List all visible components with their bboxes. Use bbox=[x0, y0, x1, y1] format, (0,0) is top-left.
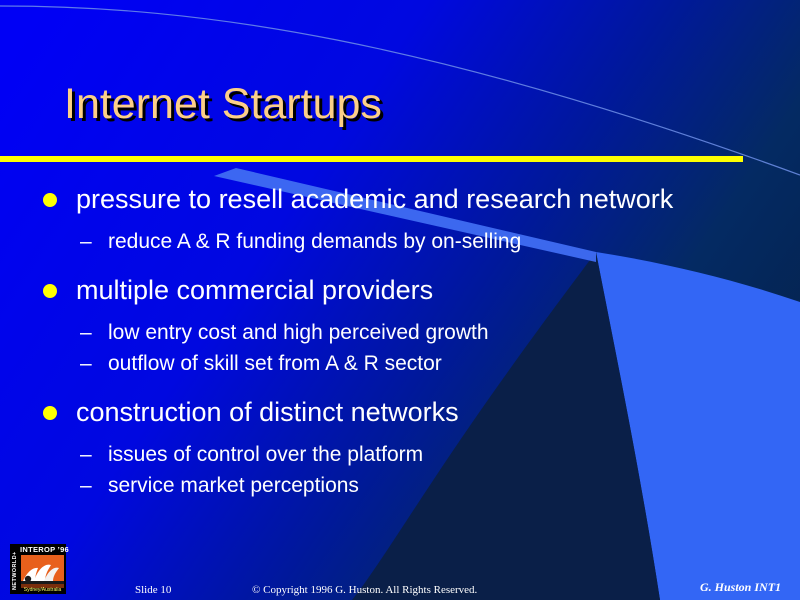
sub-bullet-item: – low entry cost and high perceived grow… bbox=[0, 317, 800, 348]
bullet-text: multiple commercial providers bbox=[76, 275, 433, 305]
en-dash-icon: – bbox=[80, 470, 92, 501]
bullet-marker-icon bbox=[43, 406, 57, 420]
sub-bullet-text: low entry cost and high perceived growth bbox=[108, 321, 489, 344]
bullet-item: multiple commercial providers bbox=[0, 273, 800, 307]
sub-bullet-item: – reduce A & R funding demands by on-sel… bbox=[0, 226, 800, 257]
title-divider-rule bbox=[0, 156, 743, 162]
author-tag: G. Huston INT1 bbox=[700, 580, 781, 594]
bullet-text: pressure to resell academic and research… bbox=[76, 184, 673, 214]
slide-body: pressure to resell academic and research… bbox=[0, 182, 800, 501]
presentation-slide: Internet Startups pressure to resell aca… bbox=[0, 0, 800, 600]
sydney-opera-house-icon bbox=[21, 555, 64, 588]
en-dash-icon: – bbox=[80, 439, 92, 470]
bullet-marker-icon bbox=[43, 193, 57, 207]
sub-bullet-item: – issues of control over the platform bbox=[0, 439, 800, 470]
sub-bullet-text: reduce A & R funding demands by on-selli… bbox=[108, 230, 521, 253]
sub-bullet-text: issues of control over the platform bbox=[108, 443, 423, 466]
spacer bbox=[0, 379, 800, 395]
spacer bbox=[0, 218, 800, 226]
logo-vertical-text: NETWORLD+ bbox=[10, 548, 20, 594]
en-dash-icon: – bbox=[80, 317, 92, 348]
slide-title: Internet Startups bbox=[64, 78, 382, 130]
bullet-text: construction of distinct networks bbox=[76, 397, 459, 427]
en-dash-icon: – bbox=[80, 348, 92, 379]
en-dash-icon: – bbox=[80, 226, 92, 257]
sub-bullet-text: service market perceptions bbox=[108, 474, 359, 497]
sub-bullet-text: outflow of skill set from A & R sector bbox=[108, 352, 442, 375]
logo-image-box bbox=[21, 555, 64, 588]
bullet-item: construction of distinct networks bbox=[0, 395, 800, 429]
spacer bbox=[0, 309, 800, 317]
spacer bbox=[0, 257, 800, 273]
slide-number: Slide 10 bbox=[135, 584, 171, 597]
bullet-item: pressure to resell academic and research… bbox=[0, 182, 800, 216]
networld-interop-logo: NETWORLD+ INTEROP ’96 Sydney/Australia bbox=[10, 544, 66, 594]
sub-bullet-item: – outflow of skill set from A & R sector bbox=[0, 348, 800, 379]
logo-caption: Sydney/Australia bbox=[21, 587, 64, 593]
sub-bullet-item: – service market perceptions bbox=[0, 470, 800, 501]
logo-top-text: INTEROP ’96 bbox=[20, 545, 66, 554]
spacer bbox=[0, 431, 800, 439]
bullet-marker-icon bbox=[43, 284, 57, 298]
copyright-notice: © Copyright 1996 G. Huston. All Rights R… bbox=[252, 584, 477, 597]
